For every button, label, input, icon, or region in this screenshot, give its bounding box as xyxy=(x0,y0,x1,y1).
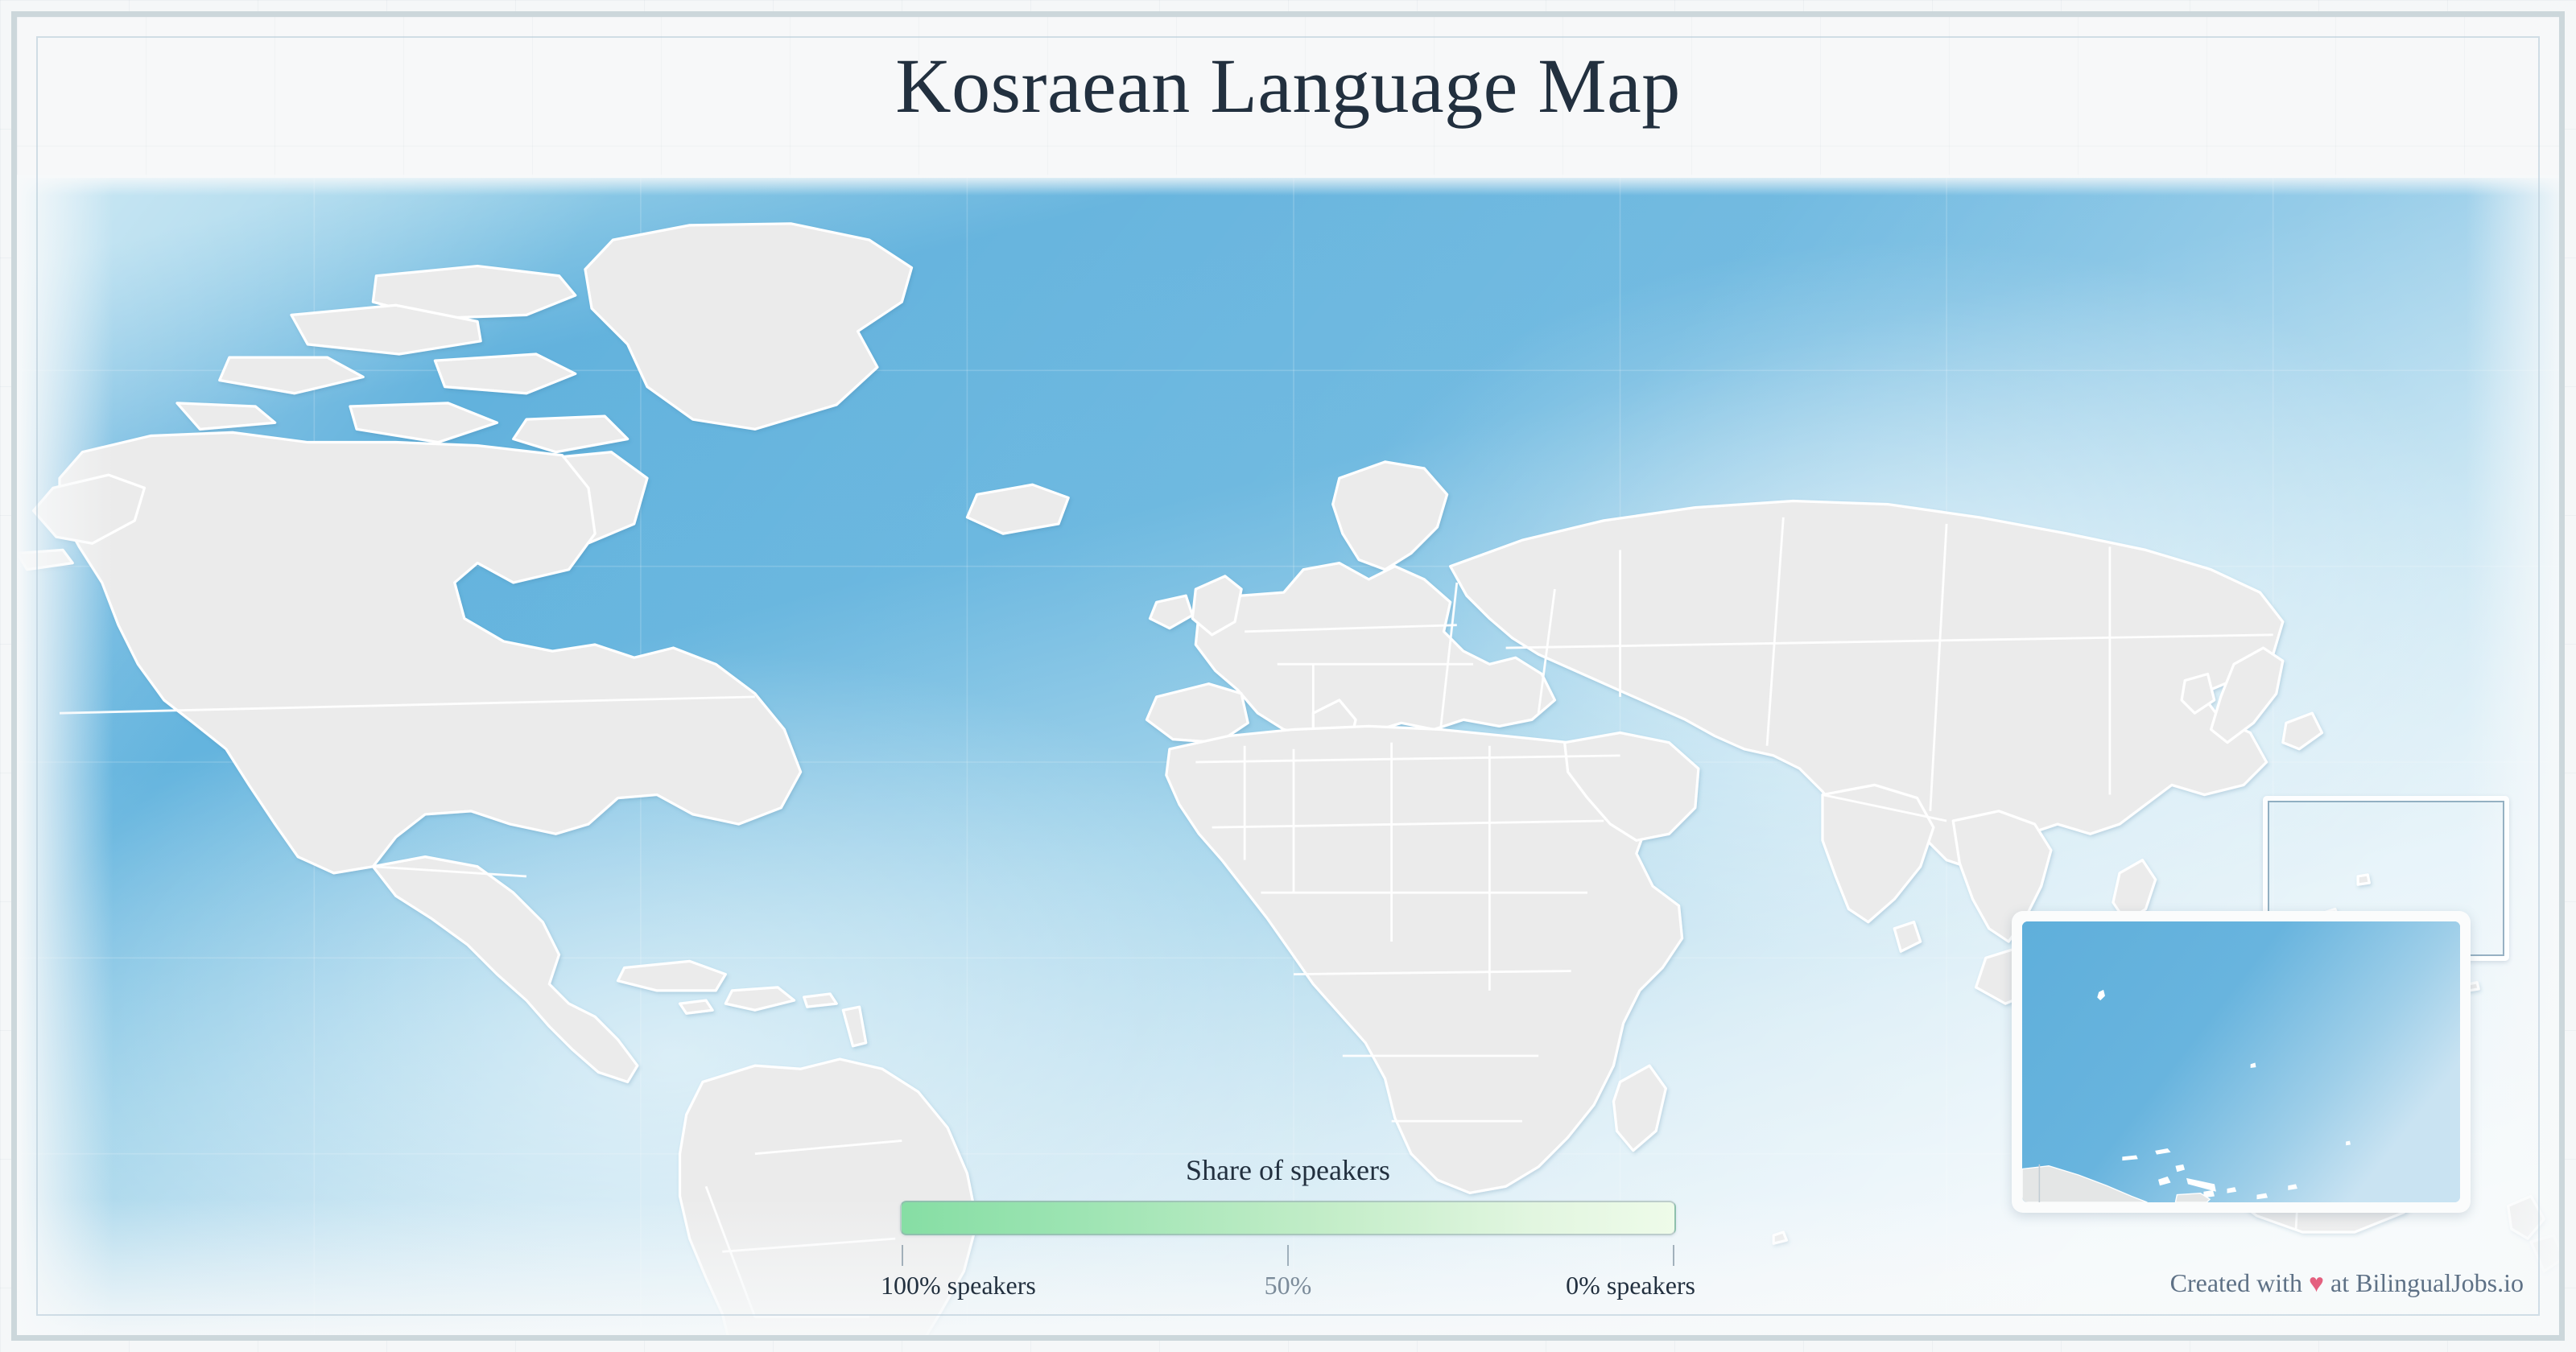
legend-tick-50 xyxy=(1287,1245,1289,1266)
page-title: Kosraean Language Map xyxy=(17,46,2559,127)
footer-suffix: at BilingualJobs.io xyxy=(2330,1268,2524,1297)
footer-attribution[interactable]: Created with ♥ at BilingualJobs.io xyxy=(2170,1268,2524,1298)
inset-map-frame xyxy=(2022,921,2460,1202)
heart-icon: ♥ xyxy=(2309,1268,2324,1297)
legend-label-max: 100% speakers xyxy=(881,1271,1036,1300)
land-jamaica xyxy=(680,1000,713,1013)
legend-ticks xyxy=(900,1240,1676,1267)
legend-label-mid: 50% xyxy=(1265,1271,1312,1300)
inset-map-panel[interactable] xyxy=(2012,911,2471,1213)
header: Kosraean Language Map xyxy=(17,17,2559,178)
footer-prefix: Created with xyxy=(2170,1268,2302,1297)
land-puerto-rico xyxy=(804,994,837,1007)
legend-labels: 100% speakers 50% 0% speakers xyxy=(885,1271,1690,1309)
legend-title: Share of speakers xyxy=(885,1153,1690,1187)
inset-ocean xyxy=(2022,921,2460,1202)
inset-map-svg xyxy=(2022,921,2460,1202)
legend-tick-100 xyxy=(902,1245,903,1266)
page-frame: Kosraean Language Map xyxy=(11,11,2565,1341)
legend-tick-0 xyxy=(1673,1245,1674,1266)
legend: Share of speakers 100% speakers 50% 0% s… xyxy=(885,1153,1690,1309)
inset-island-kosrae xyxy=(2346,1141,2351,1146)
legend-gradient-bar xyxy=(900,1201,1676,1235)
map-page: Kosraean Language Map xyxy=(0,0,2576,1352)
legend-label-min: 0% speakers xyxy=(1566,1271,1695,1300)
land-pacific-island-5 xyxy=(1773,1232,1786,1243)
